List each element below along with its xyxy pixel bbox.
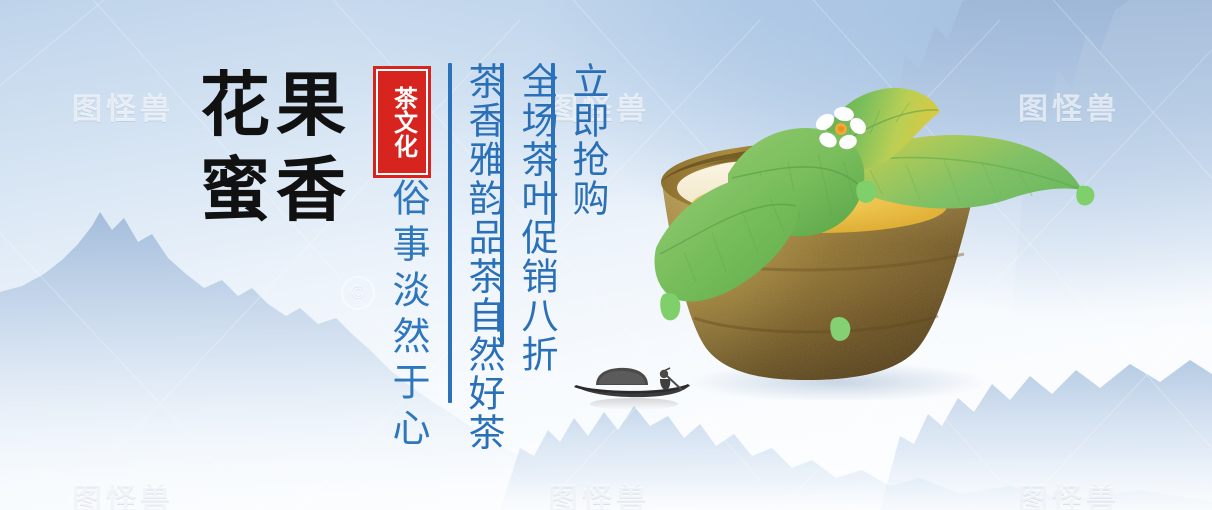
seal-stamp: 茶文化 bbox=[373, 66, 431, 178]
divider-rule-1 bbox=[448, 63, 452, 403]
title-line-1: 花果 bbox=[196, 64, 356, 149]
tea-bowl-illustration bbox=[620, 60, 1120, 400]
vertical-text-poem: 俗事淡然于心 bbox=[380, 178, 435, 454]
seal-stamp-text: 茶文化 bbox=[389, 86, 416, 158]
poster-title: 花果 蜜香 bbox=[196, 64, 356, 234]
vertical-text-cta: 立即抢购 bbox=[559, 62, 613, 218]
divider-rule-2 bbox=[500, 63, 504, 345]
poster-canvas: 图怪兽 图怪兽 图怪兽 图怪兽 图怪兽 图怪兽 © © 花果 蜜香 茶文化 俗事… bbox=[0, 0, 1212, 510]
divider-rule-3 bbox=[551, 63, 555, 223]
title-line-2: 蜜香 bbox=[196, 149, 356, 234]
